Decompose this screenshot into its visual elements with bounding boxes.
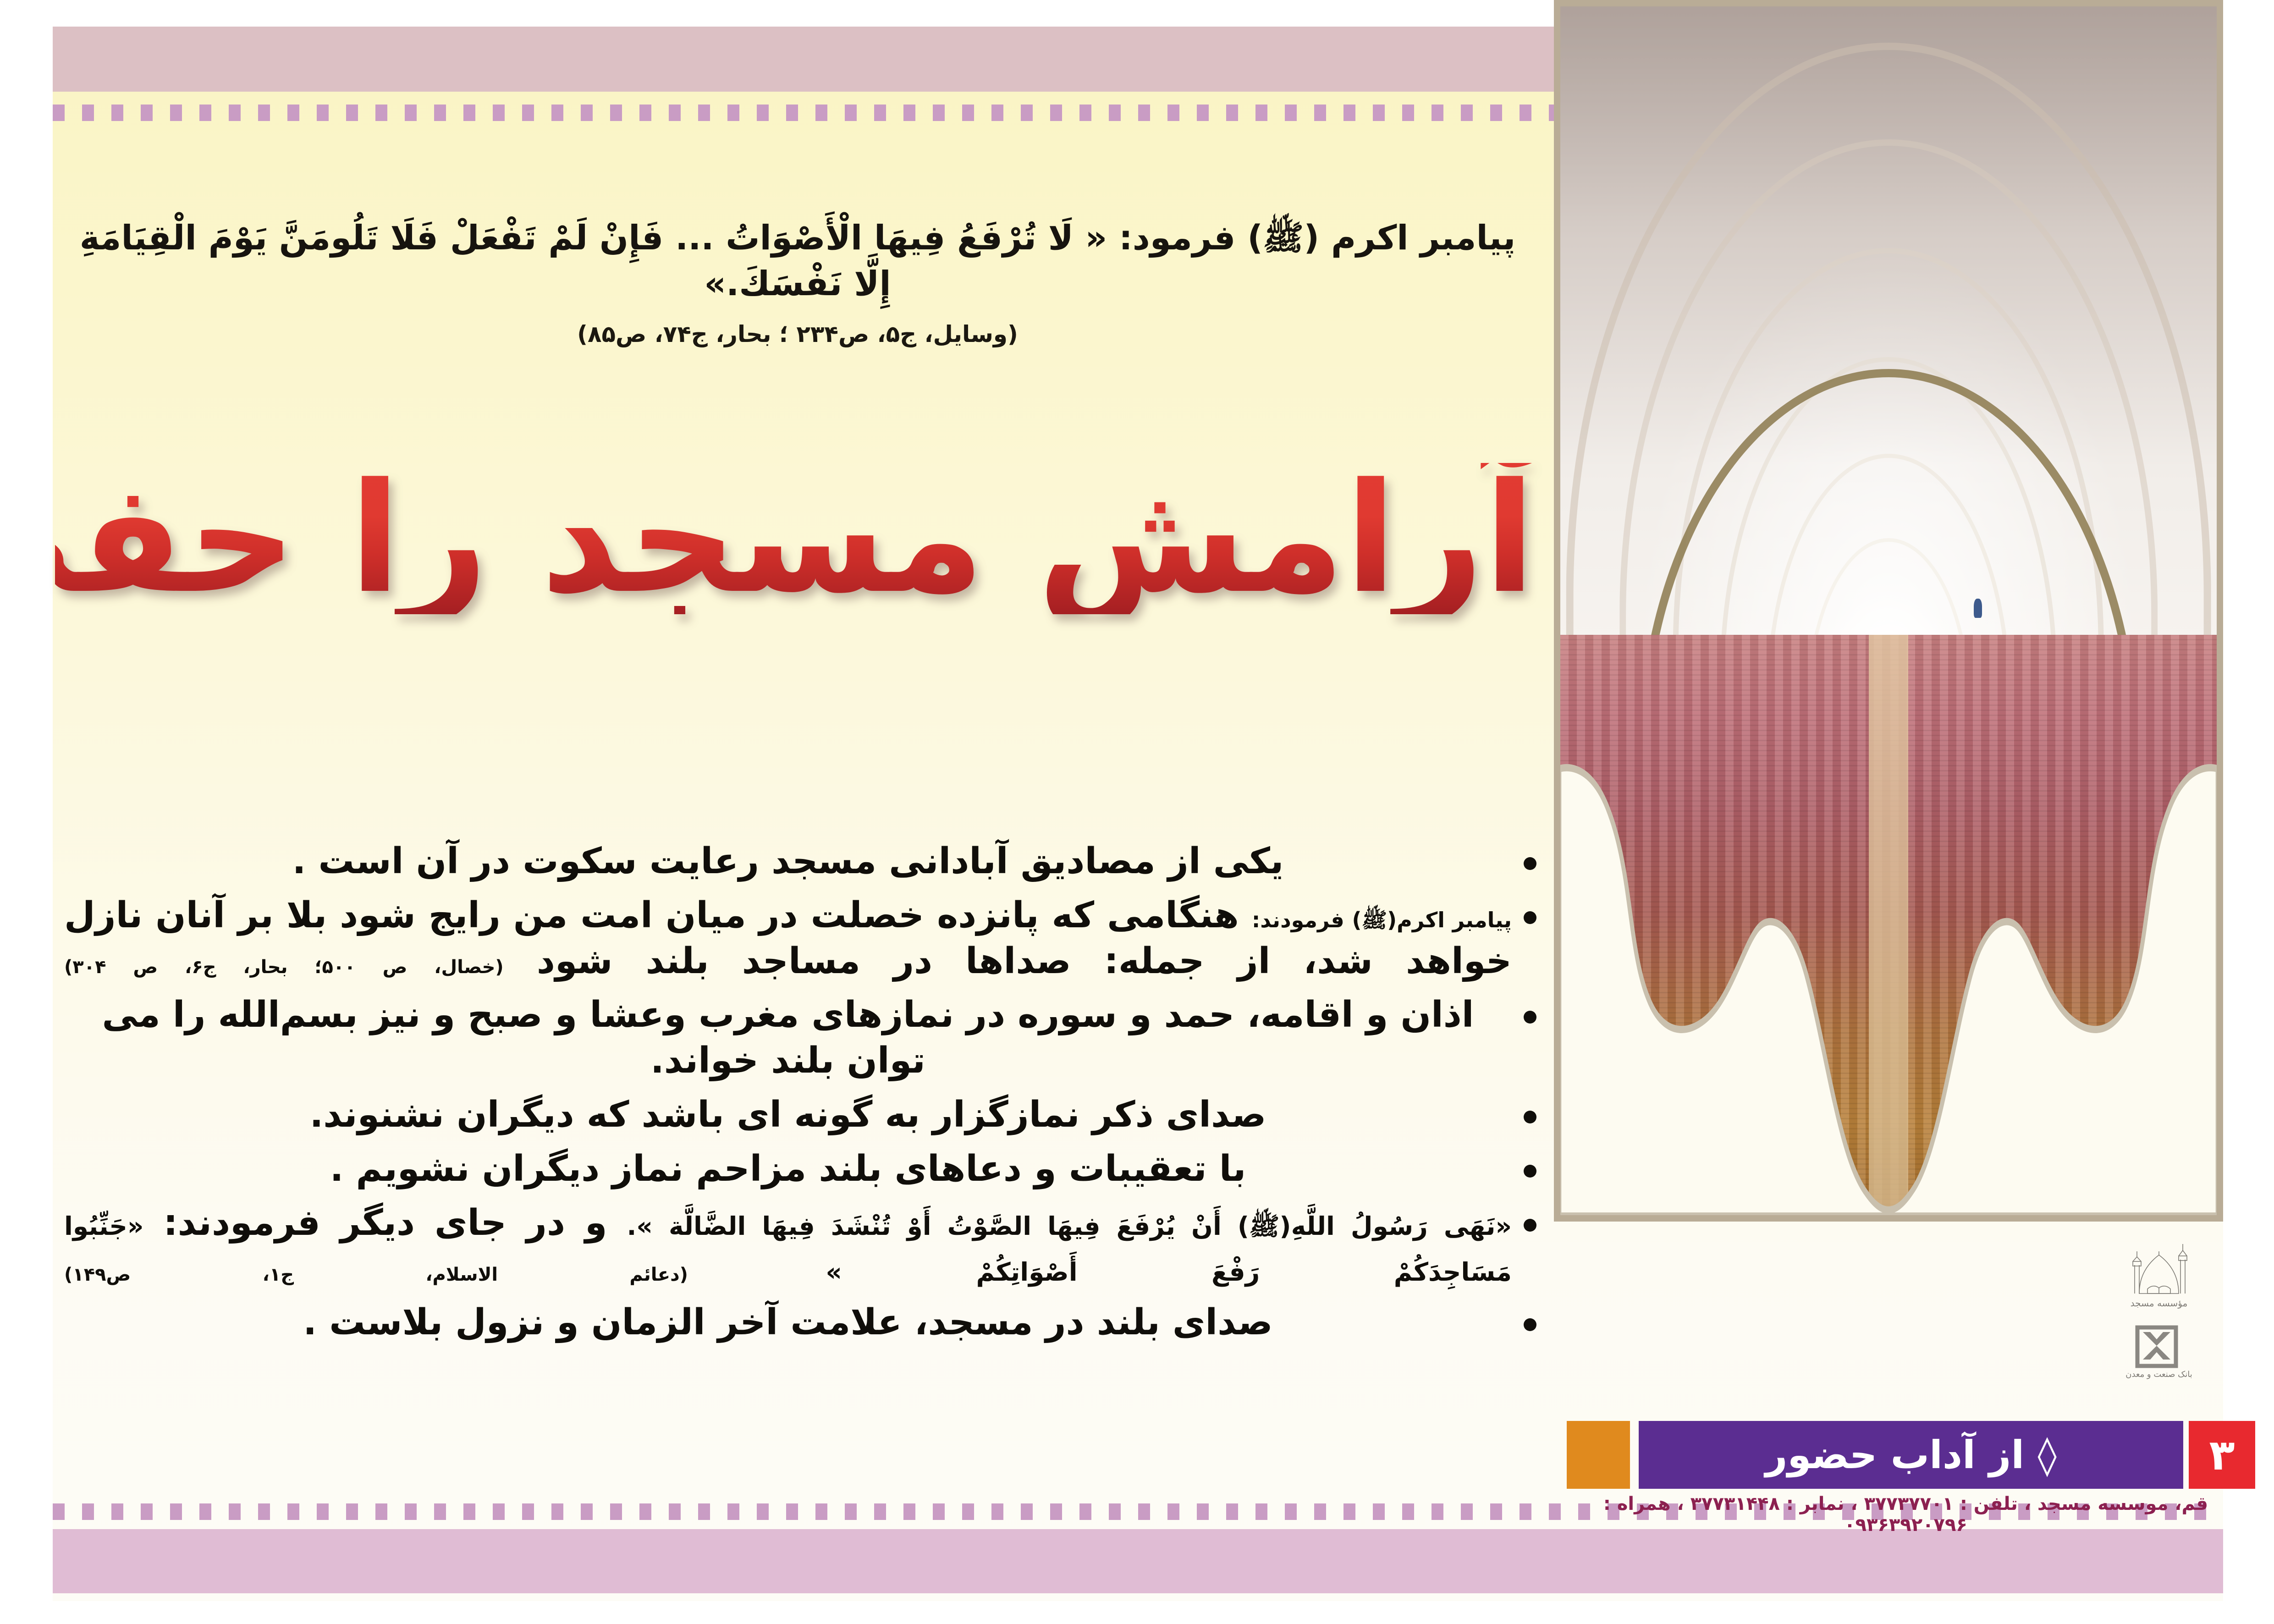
mosque-institute-logo: مؤسسه مسجد — [2111, 1238, 2207, 1320]
hadith-quote: پیامبر اکرم (ﷺ) فرمود: « لَا تُرْفَعُ فِ… — [73, 215, 1522, 307]
contact-info: قم، موسسه مسجد ، تلفن : ۳۷۷۳۷۷۰۱ ، نمابر… — [1552, 1493, 2260, 1536]
bank-logo-caption: بانک صنعت و معدن — [2125, 1370, 2192, 1379]
right-white-strip — [2223, 27, 2274, 1601]
footer-orange-block — [1567, 1421, 1630, 1489]
bottom-decorative-band — [53, 1529, 2274, 1593]
mosque-corridor-illustration — [1560, 6, 2217, 1215]
bullet-list: یکی از مصادیق آبادانی مسجد رعایت سکوت در… — [64, 839, 1540, 1354]
mosque-logo-caption: مؤسسه مسجد — [2131, 1298, 2188, 1309]
bullet-2-prefix: پیامبر اکرم(ﷺ) فرمودند: — [1252, 908, 1512, 932]
bullet-dot-icon — [1524, 911, 1536, 924]
bank-square-icon: بانک صنعت و معدن — [2125, 1324, 2193, 1383]
bullet-6-source: (دعائم الاسلام، ج۱، ص۱۴۹) — [64, 1264, 688, 1285]
bullet-dot-icon — [1524, 1318, 1536, 1331]
bullet-6-block: «نَهَى رَسُولُ اللَّهِ(ﷺ) أَنْ يُرْفَعَ … — [64, 1200, 1512, 1292]
hadith-narrator: پیامبر اکرم — [1331, 218, 1515, 258]
poster-root: پیامبر اکرم (ﷺ) فرمود: « لَا تُرْفَعُ فِ… — [0, 0, 2274, 1624]
hadith-source: (وسایل، ج۵، ص۲۳۴ ؛ بحار، ج۷۴، ص۸۵) — [73, 321, 1522, 347]
bullet-dot-icon — [1524, 1219, 1536, 1232]
page-title: آرامش مسجد را حفظ کنید — [55, 463, 1536, 614]
mosque-dome-icon: مؤسسه مسجد — [2111, 1238, 2207, 1320]
hadith-honorific-icon: (ﷺ) — [1247, 218, 1319, 258]
footer-bar: ◊ از آداب حضور ۳ — [1554, 1421, 2255, 1490]
series-banner[interactable]: ◊ از آداب حضور — [1639, 1421, 2183, 1489]
bullet-2-source: (خصال، ص ۵۰۰؛ بحار، ج۶، ص ۳۰۴) — [64, 957, 504, 978]
bullet-dot-icon — [1524, 857, 1536, 870]
photo-image — [1560, 6, 2217, 1215]
bullet-dot-icon — [1524, 1165, 1536, 1178]
series-label: ◊ از آداب حضور — [1765, 1432, 2057, 1477]
logo-group: مؤسسه مسجد بانک صنعت و معدن — [2090, 1238, 2228, 1393]
issue-number: ۳ — [2209, 1431, 2235, 1480]
hadith-said-verb: فرمود: — [1119, 218, 1235, 258]
bullet-1-text: یکی از مصادیق آبادانی مسجد رعایت سکوت در… — [64, 839, 1512, 885]
bullet-4-text: صدای ذکر نمازگزار به گونه ای باشد که دیگ… — [64, 1092, 1512, 1138]
bullet-6-arabic-1: «نَهَى رَسُولُ اللَّهِ(ﷺ) أَنْ يُرْفَعَ … — [627, 1211, 1512, 1241]
bullet-7-text: صدای بلند در مسجد، علامت آخر الزمان و نز… — [64, 1300, 1512, 1346]
worshipper-figure-4 — [1974, 599, 1982, 618]
list-item: «نَهَى رَسُولُ اللَّهِ(ﷺ) أَنْ يُرْفَعَ … — [64, 1200, 1540, 1292]
bullet-3-text: اذان و اقامه، حمد و سوره در نمازهای مغرب… — [64, 992, 1512, 1084]
bank-logo: بانک صنعت و معدن — [2125, 1324, 2193, 1383]
list-item: صدای ذکر نمازگزار به گونه ای باشد که دیگ… — [64, 1092, 1540, 1138]
list-item: اذان و اقامه، حمد و سوره در نمازهای مغرب… — [64, 992, 1540, 1084]
list-item: صدای بلند در مسجد، علامت آخر الزمان و نز… — [64, 1300, 1540, 1346]
hadith-arabic-text: « لَا تُرْفَعُ فِيهَا الْأَصْوَاتُ ... ف… — [80, 218, 1107, 303]
bullet-6-text: و در جای دیگر فرمودند: — [163, 1202, 607, 1244]
scalloped-photo-mask — [1560, 660, 2217, 1215]
bullet-dot-icon — [1524, 1111, 1536, 1123]
issue-number-badge: ۳ — [2189, 1421, 2255, 1489]
list-item: پیامبر اکرم(ﷺ) فرمودند: هنگامی که پانزده… — [64, 893, 1540, 985]
mosque-photo — [1554, 0, 2223, 1222]
bullet-2-block: پیامبر اکرم(ﷺ) فرمودند: هنگامی که پانزده… — [64, 893, 1512, 985]
bullet-5-text: با تعقیبات و دعاهای بلند مزاحم نماز دیگر… — [64, 1146, 1512, 1192]
bullet-dot-icon — [1524, 1011, 1536, 1024]
list-item: یکی از مصادیق آبادانی مسجد رعایت سکوت در… — [64, 839, 1540, 885]
list-item: با تعقیبات و دعاهای بلند مزاحم نماز دیگر… — [64, 1146, 1540, 1192]
